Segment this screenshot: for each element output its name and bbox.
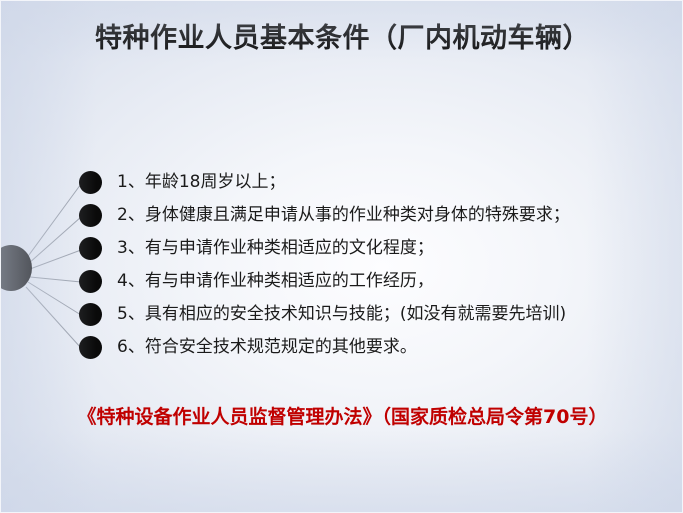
list-item-label: 4、有与申请作业种类相适应的工作经历，: [117, 273, 434, 290]
list-item[interactable]: 6、符合安全技术规范规定的其他要求。: [79, 333, 417, 361]
list-item[interactable]: 3、有与申请作业种类相适应的文化程度；: [79, 234, 434, 262]
regulation-citation: 《特种设备作业人员监督管理办法》（国家质检总局令第70号）: [1, 402, 683, 429]
slide-canvas: 特种作业人员基本条件（厂内机动车辆） 1、年龄18周岁以上； 2、身体健康且满足…: [0, 0, 683, 513]
bullet-dot-icon: [79, 204, 102, 227]
list-item[interactable]: 2、身体健康且满足申请从事的作业种类对身体的特殊要求；: [79, 201, 570, 229]
list-item-label: 1、年龄18周岁以上；: [117, 174, 285, 191]
list-item-label: 3、有与申请作业种类相适应的文化程度；: [117, 240, 434, 257]
list-item[interactable]: 1、年龄18周岁以上；: [79, 168, 285, 196]
bullet-dot-icon: [79, 336, 102, 359]
list-item-label: 5、具有相应的安全技术知识与技能；(如没有就需要先培训): [117, 306, 566, 323]
list-item-label: 2、身体健康且满足申请从事的作业种类对身体的特殊要求；: [117, 207, 570, 224]
bullet-dot-icon: [79, 171, 102, 194]
bullet-dot-icon: [79, 237, 102, 260]
list-item[interactable]: 5、具有相应的安全技术知识与技能；(如没有就需要先培训): [79, 300, 566, 328]
bullet-dot-icon: [79, 270, 102, 293]
bullet-list: 1、年龄18周岁以上； 2、身体健康且满足申请从事的作业种类对身体的特殊要求； …: [1, 1, 683, 513]
bullet-dot-icon: [79, 303, 102, 326]
list-item[interactable]: 4、有与申请作业种类相适应的工作经历，: [79, 267, 434, 295]
list-item-label: 6、符合安全技术规范规定的其他要求。: [117, 339, 417, 356]
